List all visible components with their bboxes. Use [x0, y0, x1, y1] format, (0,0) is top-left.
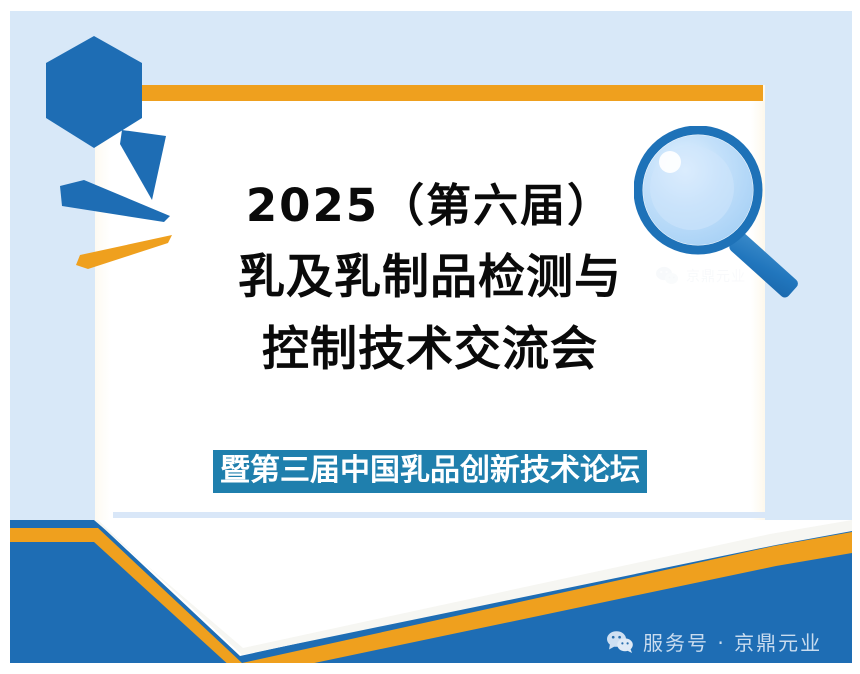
orange-top-bar: [100, 85, 763, 101]
page-title: 2025（第六届） 乳及乳制品检测与 控制技术交流会: [110, 170, 750, 386]
title-line-1: 2025（第六届）: [110, 170, 750, 242]
thin-blue-divider: [113, 512, 765, 518]
title-line-2: 乳及乳制品检测与: [110, 242, 750, 314]
title-line-3: 控制技术交流会: [110, 314, 750, 386]
poster-canvas: 京鼎元业 2025（第六届） 乳及乳制品检测与 控制技术交流会 暨第三届中国乳品…: [0, 0, 860, 674]
wechat-icon: [606, 630, 634, 654]
wechat-footer: 服务号 · 京鼎元业: [606, 627, 822, 656]
subtitle-banner: 暨第三届中国乳品创新技术论坛: [213, 450, 647, 493]
subtitle-container: 暨第三届中国乳品创新技术论坛: [0, 450, 860, 493]
wechat-account-label: 服务号 · 京鼎元业: [643, 627, 822, 656]
